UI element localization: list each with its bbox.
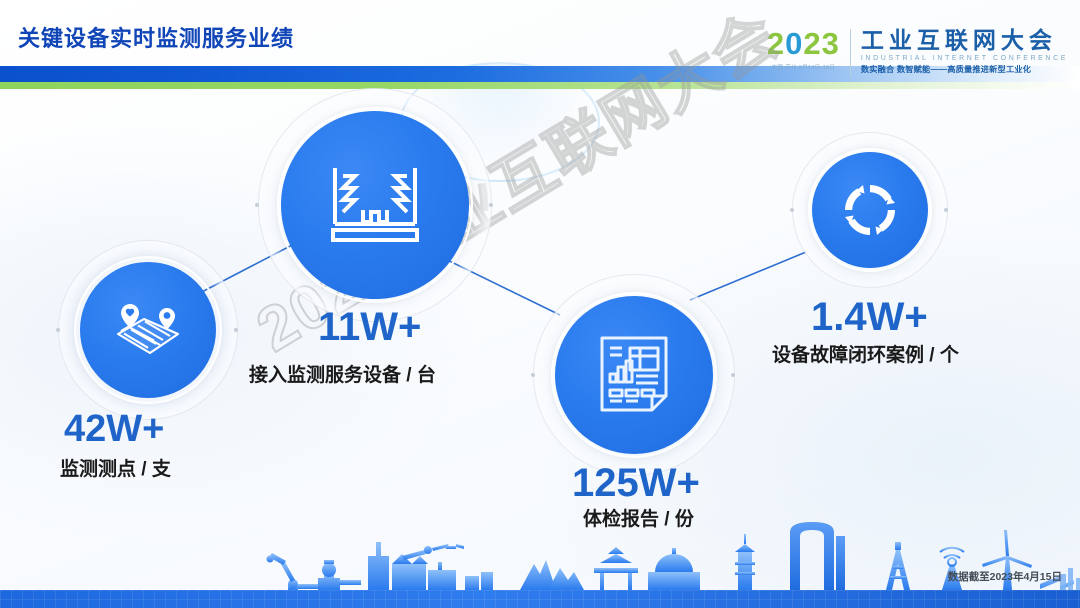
logo-year-block: 2023 中国·苏州 8月14日-16日 <box>767 27 850 71</box>
stat-label: 体检报告 / 份 <box>583 508 694 532</box>
logo-text-block: 工业互联网大会 INDUSTRIAL INTERNET CONFERENCE 数… <box>851 27 1068 76</box>
logo-year-digit-0: 0 <box>785 26 803 61</box>
footer-skyline-illustration <box>0 518 1080 608</box>
logo-conference-name-cn: 工业互联网大会 <box>861 27 1068 53</box>
logo-tagline: 数实融合 数智赋能——高质量推进新型工业化 <box>861 64 1068 76</box>
stat-value: 1.4W+ <box>811 296 928 338</box>
node-ring-dot <box>255 203 259 207</box>
conference-logo: 2023 中国·苏州 8月14日-16日 工业互联网大会 INDUSTRIAL … <box>767 27 1068 85</box>
stat-value: 125W+ <box>572 462 700 504</box>
node-disc[interactable] <box>281 111 469 299</box>
node-disc[interactable] <box>812 152 928 268</box>
skyline-ground-band <box>0 590 1080 608</box>
node-ring-dot <box>731 373 735 377</box>
pin-dot-inner <box>164 312 171 319</box>
node-ring-dot <box>234 328 238 332</box>
skyline-distant-buildings <box>1060 568 1080 590</box>
skyline-landmark-gate <box>790 522 845 590</box>
stat-label: 设备故障闭环案例 / 个 <box>772 344 959 368</box>
logo-year-digit-2: 2 <box>767 26 785 61</box>
node-ring-dot <box>56 328 60 332</box>
page-title: 关键设备实时监测服务业绩 <box>18 21 294 53</box>
report-document-icon <box>596 334 672 416</box>
stat-value: 11W+ <box>318 306 421 348</box>
logo-year: 2023 <box>767 27 840 60</box>
node-ring-dot <box>944 208 948 212</box>
skyline-silhouette-group <box>267 534 756 590</box>
logo-conference-name-en: INDUSTRIAL INTERNET CONFERENCE <box>861 53 1068 64</box>
logo-year-digit-23: 23 <box>803 26 839 61</box>
map-pin-grid-icon <box>110 300 186 360</box>
node-ring-dot <box>790 208 794 212</box>
connector-3-4 <box>690 252 806 300</box>
node-disc[interactable] <box>80 262 216 398</box>
logo-date-line: 中国·苏州 8月14日-16日 <box>767 63 840 71</box>
closed-loop-cycle-icon <box>841 181 899 239</box>
stat-label: 监测测点 / 支 <box>60 458 171 482</box>
node-disc[interactable] <box>555 296 713 454</box>
skyline-ground-grid <box>0 590 1080 608</box>
stat-value: 42W+ <box>64 408 164 450</box>
node-ring-dot <box>489 203 493 207</box>
node-ring-dot <box>531 373 535 377</box>
data-cutoff-note: 数据截至2023年4月15日 <box>948 569 1062 584</box>
stat-label: 接入监测服务设备 / 台 <box>249 364 436 388</box>
slide-canvas: 关键设备实时监测服务业绩 2023 中国·苏州 8月14日-16日 工业互联网大… <box>0 0 1080 608</box>
industrial-equipment-icon <box>329 164 421 246</box>
